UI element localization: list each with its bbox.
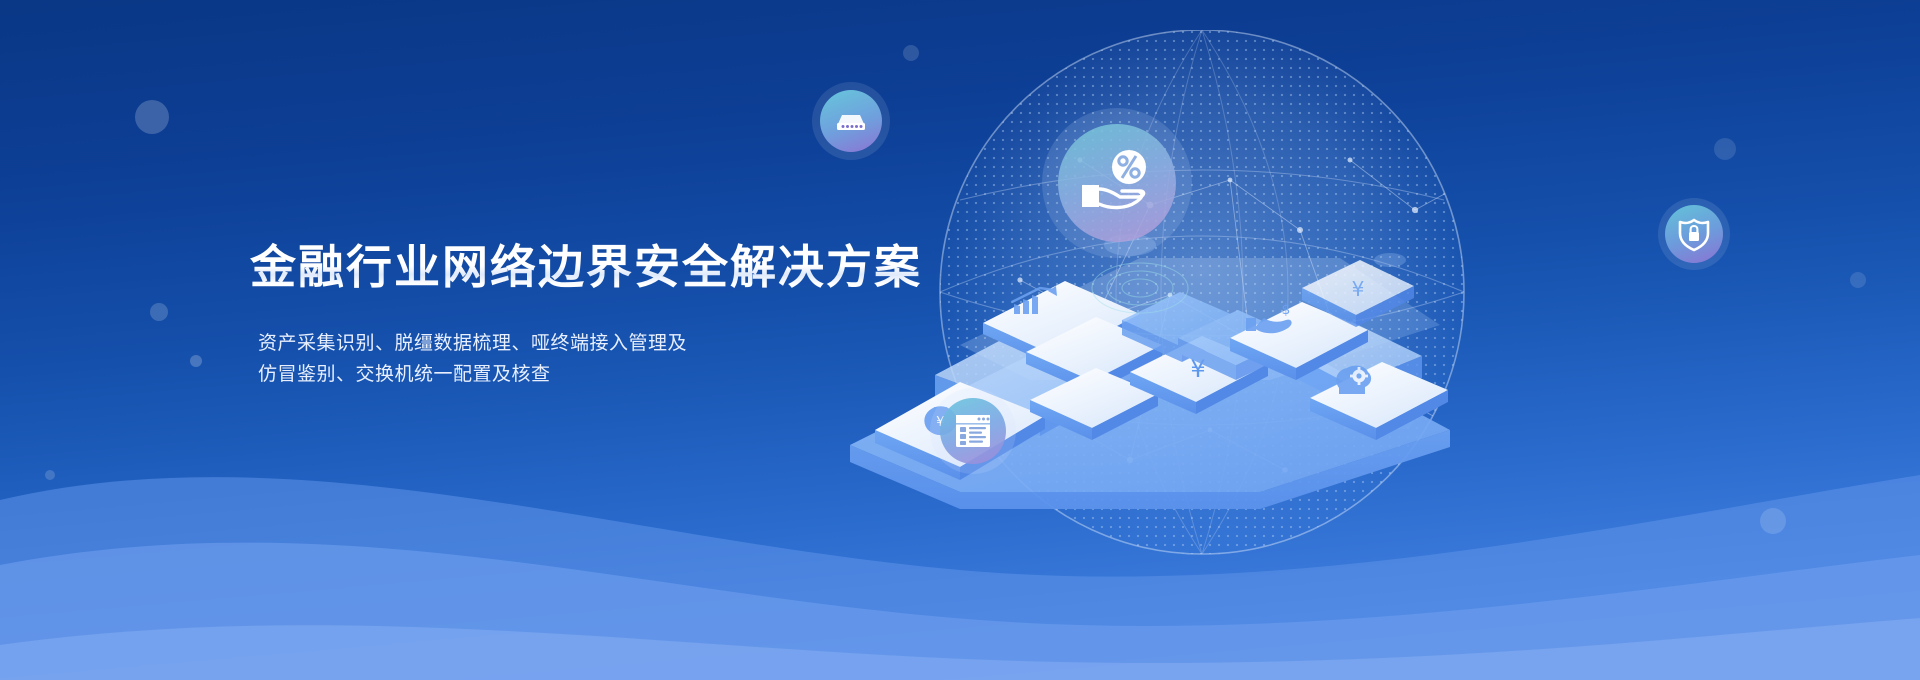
hero-banner: ¥: [0, 0, 1920, 680]
network-switch-icon: [832, 102, 870, 140]
bokeh-circle-3: [190, 355, 202, 367]
svg-text:$: $: [1282, 302, 1291, 318]
svg-text:¥: ¥: [1352, 277, 1365, 301]
shield-lock-badge: [1658, 198, 1730, 270]
page-subtitle: 资产采集识别、脱缰数据梳理、哑终端接入管理及 仿冒鉴别、交换机统一配置及核查: [258, 328, 950, 390]
document-list-badge: [930, 388, 1016, 474]
bokeh-circle-6: [1850, 272, 1866, 288]
hero-copy: 金融行业网络边界安全解决方案 资产采集识别、脱缰数据梳理、哑终端接入管理及 仿冒…: [250, 236, 950, 390]
subtitle-line-1: 资产采集识别、脱缰数据梳理、哑终端接入管理及: [258, 328, 950, 359]
percent-hand-badge: [1042, 108, 1192, 258]
bokeh-circle-2: [150, 303, 168, 321]
document-list-icon: [952, 410, 994, 452]
subtitle-line-2: 仿冒鉴别、交换机统一配置及核查: [258, 359, 950, 390]
shield-lock-icon: [1676, 215, 1712, 253]
bokeh-circle-1: [135, 100, 169, 134]
page-title: 金融行业网络边界安全解决方案: [250, 236, 950, 298]
switch-badge: [812, 82, 890, 160]
hand-percent-coin-icon: [1074, 147, 1160, 219]
bokeh-circle-5: [1714, 138, 1736, 160]
